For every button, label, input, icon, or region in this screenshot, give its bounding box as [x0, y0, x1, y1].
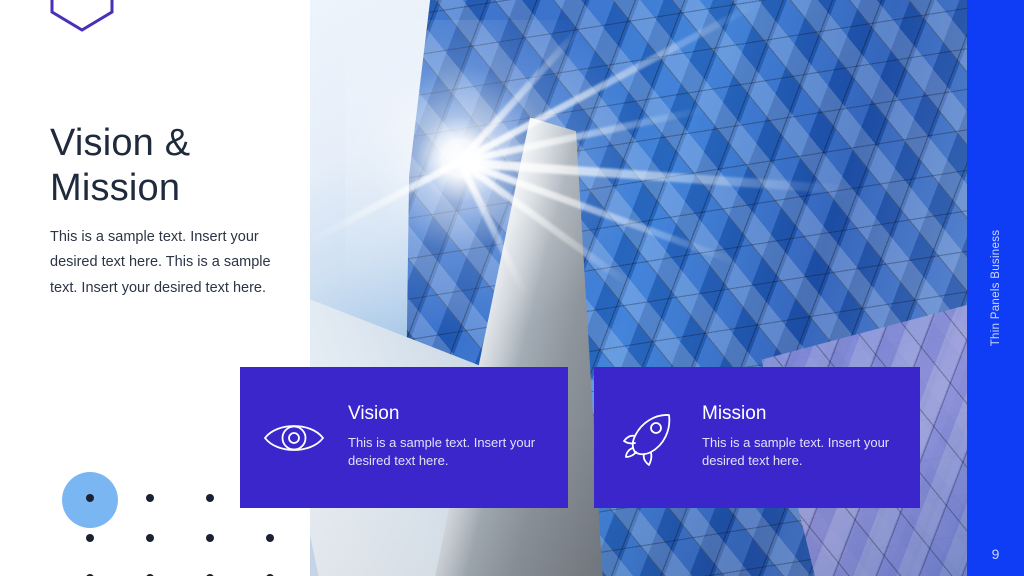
page-title: Vision &Mission — [50, 121, 290, 211]
card-mission[interactable]: Mission This is a sample text. Insert yo… — [594, 367, 920, 508]
card-mission-body: Mission This is a sample text. Insert yo… — [702, 404, 920, 471]
eye-icon — [240, 418, 348, 458]
hexagon-outline-icon — [50, 0, 114, 48]
grid-dot — [206, 534, 214, 542]
page-number: 9 — [967, 546, 1024, 562]
grid-dot — [86, 494, 94, 502]
slide-canvas: Vision &Mission This is a sample text. I… — [0, 0, 1024, 576]
title-line-1: Vision & — [50, 122, 190, 164]
card-vision-text: This is a sample text. Insert your desir… — [348, 434, 552, 471]
card-mission-title: Mission — [702, 404, 904, 425]
grid-dot — [86, 534, 94, 542]
intro-paragraph: This is a sample text. Insert your desir… — [50, 225, 278, 302]
grid-dot — [266, 534, 274, 542]
card-vision-title: Vision — [348, 404, 552, 425]
card-vision[interactable]: Vision This is a sample text. Insert you… — [240, 367, 568, 508]
card-mission-text: This is a sample text. Insert your desir… — [702, 434, 904, 471]
title-line-2: Mission — [50, 167, 180, 209]
right-sidebar: Thin Panels Business 9 — [967, 0, 1024, 576]
dot-grid — [66, 478, 266, 576]
grid-dot — [146, 494, 154, 502]
card-vision-body: Vision This is a sample text. Insert you… — [348, 404, 568, 471]
grid-dot — [206, 494, 214, 502]
grid-dot — [146, 534, 154, 542]
sidebar-label: Thin Panels Business — [990, 230, 1002, 347]
rocket-icon — [594, 410, 702, 466]
